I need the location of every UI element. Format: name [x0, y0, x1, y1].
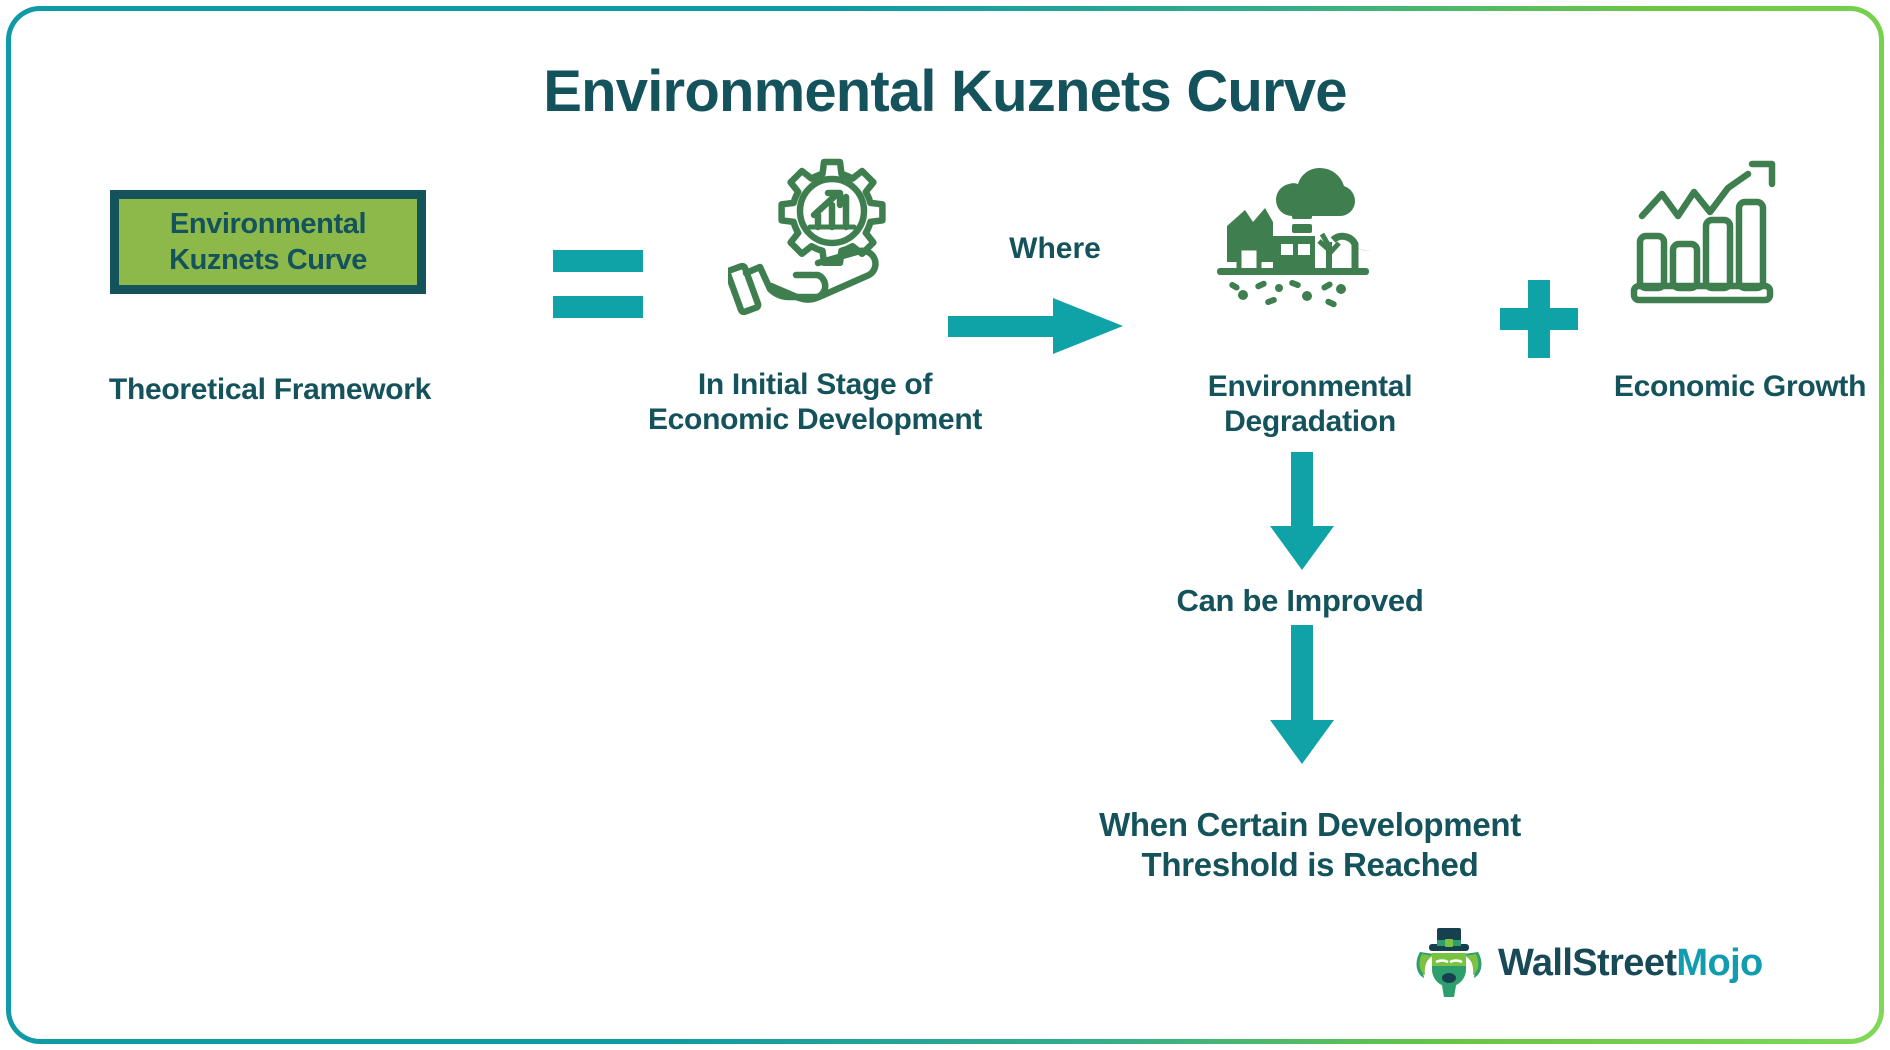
down-arrow-2-shaft	[1291, 625, 1313, 722]
down-arrow-icon-2	[1242, 625, 1362, 765]
plus-bar-vertical	[1528, 280, 1550, 358]
can-be-improved-label: Can be Improved	[1090, 583, 1510, 619]
outcome-threshold-label: When Certain Development Threshold is Re…	[1020, 805, 1600, 886]
bar-chart-growth-arrow-icon	[1630, 158, 1790, 306]
infographic-canvas: Environmental Kuznets Curve Environmenta…	[0, 0, 1890, 1050]
logo-wordmark: WallStreetMojo	[1498, 942, 1763, 985]
right-arrow-head	[1053, 298, 1123, 354]
equals-bar-top	[553, 250, 643, 272]
right-arrow-shaft	[948, 316, 1060, 337]
node-label-environmental-degradation: Environmental Degradation	[1140, 370, 1480, 440]
plus-sign-icon	[1500, 280, 1578, 358]
down-arrow-2-head	[1270, 720, 1334, 764]
page-title: Environmental Kuznets Curve	[0, 58, 1890, 125]
theoretical-framework-label: Theoretical Framework	[60, 373, 480, 408]
gradient-frame-border	[6, 6, 1884, 1044]
down-arrow-icon-1	[1242, 452, 1362, 570]
factory-pollution-icon	[1195, 150, 1375, 310]
hand-holding-gear-growth-icon	[728, 155, 898, 315]
ekc-term-line-1: Environmental	[170, 206, 366, 242]
ekc-term-box-inner: Environmental Kuznets Curve	[119, 199, 417, 285]
down-arrow-1-shaft	[1291, 452, 1313, 528]
down-arrow-1-head	[1270, 526, 1334, 570]
bull-with-top-hat-logo	[1412, 926, 1486, 1000]
equals-bar-bottom	[553, 296, 643, 318]
ekc-term-box: Environmental Kuznets Curve	[110, 190, 426, 294]
logo-text-accent: Mojo	[1676, 942, 1762, 984]
where-connector-label: Where	[945, 232, 1165, 266]
node-label-initial-stage: In Initial Stage of Economic Development	[640, 368, 990, 438]
equals-sign-icon	[553, 250, 643, 318]
node-label-economic-growth: Economic Growth	[1590, 370, 1890, 405]
logo-text-primary: WallStreet	[1498, 942, 1676, 984]
ekc-term-line-2: Kuznets Curve	[169, 242, 367, 278]
right-arrow-icon	[948, 298, 1123, 354]
wallstreetmojo-logo[interactable]: WallStreetMojo	[1412, 920, 1792, 1006]
